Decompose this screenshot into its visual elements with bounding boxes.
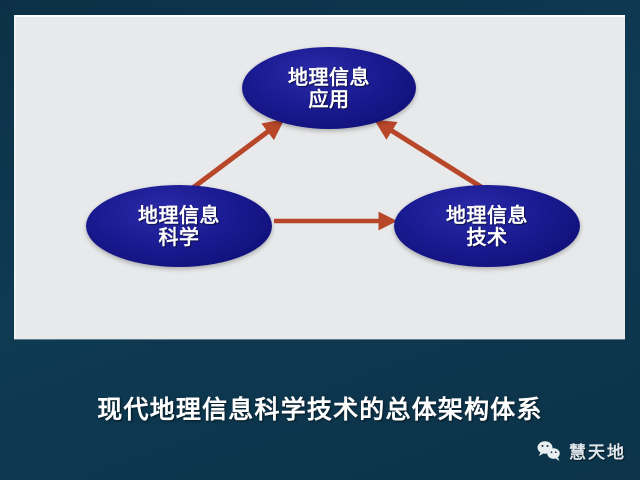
watermark-text: 慧天地 [569,438,626,463]
slide-title: 现代地理信息科学技术的总体架构体系 [0,390,640,426]
node-geographic-information-technology[interactable]: 地理信息 技术 [394,185,580,267]
node-geographic-information-science[interactable]: 地理信息 科学 [86,185,272,267]
watermark: 慧天地 [536,438,626,463]
node-science-line1: 地理信息 [138,204,220,226]
wechat-icon [536,440,562,462]
node-application-line2: 应用 [309,88,350,110]
node-geographic-information-application[interactable]: 地理信息 应用 [242,47,416,129]
node-technology-line2: 技术 [467,226,508,248]
caption-band: 现代地理信息科学技术的总体架构体系 慧天地 [0,340,640,480]
node-technology-line1: 地理信息 [446,204,528,226]
node-science-line2: 科学 [159,226,200,248]
slide-canvas: 地理信息 应用 地理信息 科学 地理信息 技术 现代地理信息科学技术的总体架构体… [0,0,640,480]
node-application-line1: 地理信息 [288,66,370,88]
